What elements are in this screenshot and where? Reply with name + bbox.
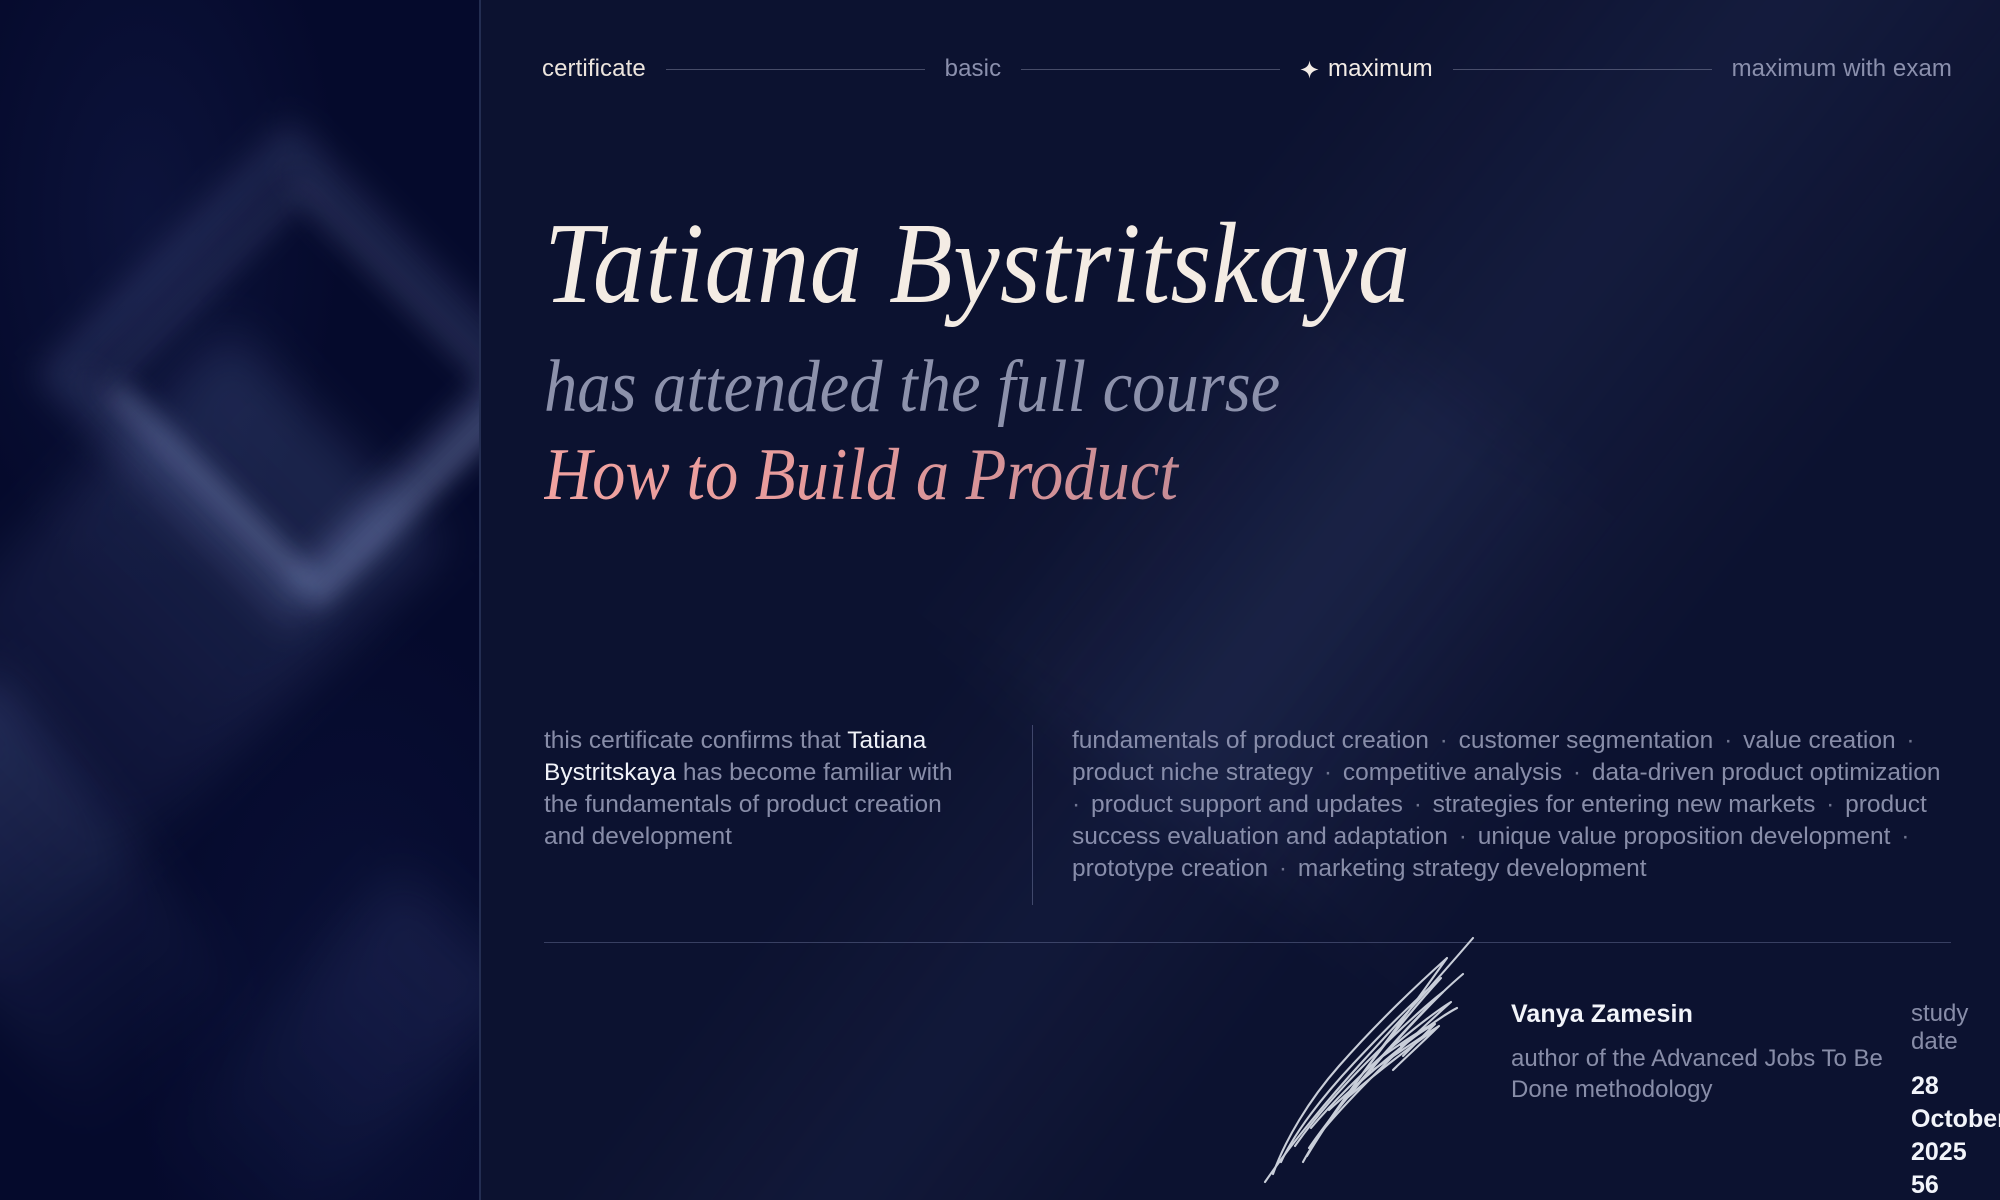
handwritten-signature-icon <box>1251 930 1541 1190</box>
body-columns: this certificate confirms that Tatiana B… <box>544 725 1950 905</box>
author-name: Vanya Zamesin <box>1511 1000 1911 1029</box>
topic-separator-dot: · <box>1562 759 1592 786</box>
diamond-edge-highlight-icon <box>108 188 479 612</box>
topic-item: marketing strategy development <box>1298 855 1647 882</box>
tier-item-maximum-with-exam[interactable]: maximum with exam <box>1732 55 1952 83</box>
study-date-label: study date <box>1911 1000 2000 1056</box>
footer-block: Vanya Zamesin author of the Advanced Job… <box>1511 1000 1950 1200</box>
topic-item: prototype creation <box>1072 855 1268 882</box>
tier-item-basic-label: basic <box>945 55 1002 82</box>
confirmation-lead: this certificate confirms that <box>544 727 847 754</box>
light-beam-secondary <box>0 671 260 1139</box>
cohort-value: 56 cohort <box>1911 1169 2000 1200</box>
topic-item: product niche strategy <box>1072 759 1313 786</box>
topic-separator-dot: · <box>1713 727 1743 754</box>
confirmation-text: this certificate confirms that Tatiana B… <box>544 725 974 853</box>
study-date-value: 28 October, 2025 56 cohort <box>1911 1070 2000 1200</box>
diamond-glow-outer-icon <box>35 120 479 629</box>
light-beam-primary <box>0 330 442 995</box>
topics-list: fundamentals of product creation · custo… <box>1072 725 1950 885</box>
study-date: 28 October, 2025 <box>1911 1070 2000 1169</box>
topic-item: product support and updates <box>1091 791 1403 818</box>
tier-connector-line-1 <box>666 69 925 70</box>
topic-item: unique value proposition development <box>1478 823 1891 850</box>
columns-divider <box>1032 725 1033 905</box>
certificate-main: certificate basic maximum maximum with e… <box>481 0 2000 1200</box>
certificate-canvas: certificate basic maximum maximum with e… <box>0 0 2000 1200</box>
tier-nav: certificate basic maximum maximum with e… <box>542 55 1952 83</box>
hero-block: Tatiana Bystritskaya has attended the fu… <box>544 205 1944 519</box>
footer-divider <box>544 942 1951 943</box>
topic-item: competitive analysis <box>1343 759 1562 786</box>
topic-separator-dot: · <box>1313 759 1343 786</box>
topic-item: value creation <box>1743 727 1896 754</box>
decorative-left-panel <box>0 0 479 1200</box>
tier-connector-line-2 <box>1021 69 1280 70</box>
tier-nav-heading: certificate <box>542 55 646 83</box>
light-beam-tertiary <box>145 872 479 1200</box>
topic-separator-dot: · <box>1890 823 1913 850</box>
topic-separator-dot: · <box>1448 823 1478 850</box>
topic-item: strategies for entering new markets <box>1433 791 1816 818</box>
tier-item-basic[interactable]: basic <box>945 55 1002 83</box>
topic-item: fundamentals of product creation <box>1072 727 1429 754</box>
recipient-name: Tatiana Bystritskaya <box>544 205 1804 323</box>
tier-item-maximum-label: maximum <box>1328 55 1433 83</box>
topic-separator-dot: · <box>1815 791 1845 818</box>
topic-separator-dot: · <box>1268 855 1298 882</box>
tier-item-maximum[interactable]: maximum <box>1300 55 1433 83</box>
tier-item-maximum-with-exam-label: maximum with exam <box>1732 55 1952 82</box>
topic-item: data-driven product optimization <box>1592 759 1941 786</box>
topic-item: customer segmentation <box>1459 727 1714 754</box>
course-title: How to Build a Product <box>544 433 1804 519</box>
date-block: study date 28 October, 2025 56 cohort <box>1911 1000 2000 1200</box>
topic-separator-dot: · <box>1429 727 1459 754</box>
topic-separator-dot: · <box>1896 727 1919 754</box>
author-block: Vanya Zamesin author of the Advanced Job… <box>1511 1000 1911 1200</box>
sparkle-icon <box>1300 60 1319 79</box>
author-role: author of the Advanced Jobs To Be Done m… <box>1511 1043 1911 1105</box>
attended-line: has attended the full course <box>544 345 1804 431</box>
tier-connector-line-3 <box>1453 69 1712 70</box>
diamond-glow-inner-icon <box>88 173 479 597</box>
topic-separator-dot: · <box>1403 791 1433 818</box>
